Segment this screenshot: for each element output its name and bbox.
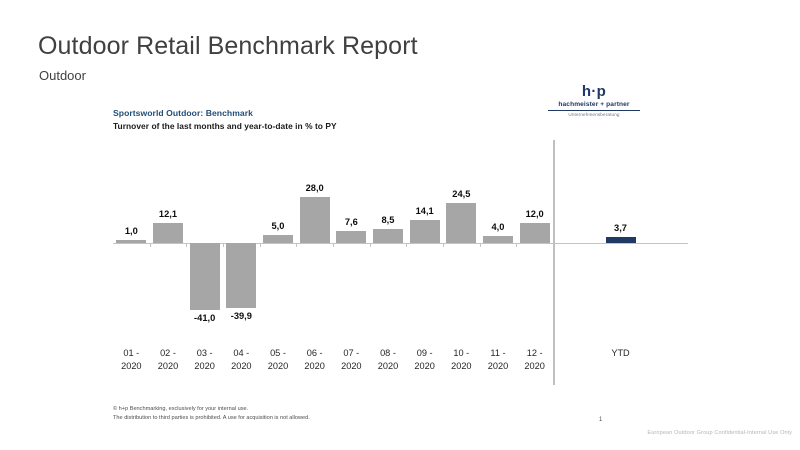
- bar[interactable]: [226, 243, 256, 308]
- footer-copyright: © h+p Benchmarking, exclusively for your…: [113, 405, 310, 423]
- bar[interactable]: [190, 243, 220, 310]
- x-axis-label-line: 07 -: [333, 347, 370, 360]
- x-axis-label: 12 -2020: [516, 347, 553, 373]
- x-axis-label: YTD: [553, 347, 688, 360]
- bar-value-label: 1,0: [125, 226, 138, 236]
- x-axis-label-line: 11 -: [480, 347, 517, 360]
- logo-company-name: hachmeister + partner: [548, 102, 640, 111]
- page-title: Outdoor Retail Benchmark Report: [38, 32, 418, 61]
- x-axis-label-line: 08 -: [370, 347, 407, 360]
- bar-value-label: -39,9: [231, 311, 252, 321]
- footer-line-2: The distribution to third parties is pro…: [113, 414, 310, 423]
- bar-value-label: 4,0: [492, 222, 505, 232]
- logo-tagline: Unternehmensberatung: [548, 113, 640, 118]
- bar[interactable]: [373, 229, 403, 243]
- x-axis-label: 01 -2020: [113, 347, 150, 373]
- page-subtitle: Outdoor: [39, 68, 86, 83]
- chart-subtitle: Turnover of the last months and year-to-…: [113, 121, 337, 131]
- x-axis-label: 06 -2020: [296, 347, 333, 373]
- x-axis-label: 03 -2020: [186, 347, 223, 373]
- x-axis-label-line: 01 -: [113, 347, 150, 360]
- bar[interactable]: [300, 197, 330, 243]
- bar[interactable]: [446, 203, 476, 243]
- bar[interactable]: [336, 231, 366, 243]
- bar-value-label: 14,1: [416, 206, 434, 216]
- bar[interactable]: [410, 220, 440, 243]
- bar-value-label: 12,0: [526, 209, 544, 219]
- x-axis-label: 08 -2020: [370, 347, 407, 373]
- x-axis-label-line: 2020: [480, 360, 517, 373]
- bar-value-label: 12,1: [159, 209, 177, 219]
- x-axis-label-line: 2020: [260, 360, 297, 373]
- x-axis-label-line: 2020: [370, 360, 407, 373]
- bar-value-label: 8,5: [382, 215, 395, 225]
- x-axis-label-line: 02 -: [150, 347, 187, 360]
- x-axis-label: 07 -2020: [333, 347, 370, 373]
- x-axis-label-line: 2020: [223, 360, 260, 373]
- bar[interactable]: [483, 236, 513, 243]
- x-axis-label-line: 09 -: [406, 347, 443, 360]
- x-axis-label-line: 10 -: [443, 347, 480, 360]
- bar-value-label: 3,7: [614, 223, 627, 233]
- logo-mark-icon: h·p: [548, 84, 640, 99]
- chart-title: Sportsworld Outdoor: Benchmark: [113, 108, 253, 118]
- bar[interactable]: [153, 223, 183, 243]
- bar[interactable]: [116, 240, 146, 243]
- x-axis-label: 04 -2020: [223, 347, 260, 373]
- x-axis-label-line: 03 -: [186, 347, 223, 360]
- x-axis-label-line: 2020: [406, 360, 443, 373]
- x-axis-label-line: 05 -: [260, 347, 297, 360]
- bar[interactable]: [263, 235, 293, 243]
- bar-value-label: -41,0: [194, 313, 215, 323]
- bar-value-label: 7,6: [345, 217, 358, 227]
- x-axis-label-line: 2020: [113, 360, 150, 373]
- x-axis-label-line: 12 -: [516, 347, 553, 360]
- x-axis-label: 02 -2020: [150, 347, 187, 373]
- x-axis-label-line: 2020: [186, 360, 223, 373]
- x-axis-label-line: 04 -: [223, 347, 260, 360]
- x-axis-label-line: YTD: [553, 347, 688, 360]
- x-axis-label-line: 2020: [443, 360, 480, 373]
- x-axis-label-line: 2020: [516, 360, 553, 373]
- x-axis-label-line: 2020: [150, 360, 187, 373]
- bar[interactable]: [606, 237, 636, 243]
- confidentiality-notice: European Outdoor Group Confidential-Inte…: [647, 430, 792, 436]
- bar-value-label: 24,5: [452, 189, 470, 199]
- page-number: 1: [599, 417, 602, 423]
- x-axis-label: 11 -2020: [480, 347, 517, 373]
- bar-value-label: 28,0: [306, 183, 324, 193]
- footer-line-1: © h+p Benchmarking, exclusively for your…: [113, 405, 310, 414]
- company-logo: h·p hachmeister + partner Unternehmensbe…: [548, 84, 640, 117]
- x-axis-label: 05 -2020: [260, 347, 297, 373]
- x-axis-label-line: 2020: [296, 360, 333, 373]
- x-axis-label: 09 -2020: [406, 347, 443, 373]
- x-axis-label-line: 06 -: [296, 347, 333, 360]
- x-axis-label: 10 -2020: [443, 347, 480, 373]
- x-axis-label-line: 2020: [333, 360, 370, 373]
- x-axis-labels: 01 -202002 -202003 -202004 -202005 -2020…: [113, 347, 688, 382]
- bar[interactable]: [520, 223, 550, 243]
- bar-value-label: 5,0: [272, 221, 285, 231]
